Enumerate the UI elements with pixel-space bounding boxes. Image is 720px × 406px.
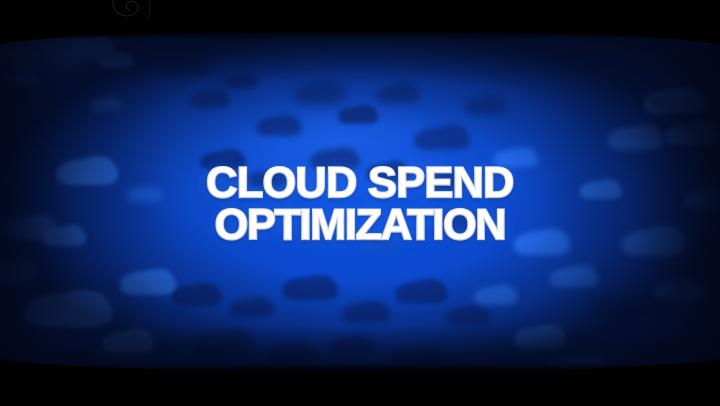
cloud-base <box>0 51 86 69</box>
cloud-shape <box>120 271 176 295</box>
cloud-base <box>514 243 570 255</box>
cloud-base <box>376 94 420 103</box>
top-edge-shadow <box>0 31 720 39</box>
cloud-puff-right <box>80 156 115 175</box>
cloud-base <box>126 194 162 202</box>
cloud-puff-left <box>270 347 293 360</box>
cloud-puff-left <box>400 283 424 297</box>
cloud-base <box>120 283 176 295</box>
cloud-puff-left <box>518 233 544 248</box>
cloud-puff-right <box>303 275 334 292</box>
cloud-shape <box>446 307 490 325</box>
cloud-shape <box>622 229 686 256</box>
cloud-shape <box>414 127 470 150</box>
cloud-base <box>70 48 114 57</box>
cloud-puff-left <box>193 92 211 103</box>
cloud-base <box>580 190 622 199</box>
cloud-puff-right <box>102 96 120 106</box>
cloud-puff-right <box>191 283 219 299</box>
cloud-shape <box>56 159 118 185</box>
cloud-shape <box>338 107 378 124</box>
cloud-base <box>330 346 374 355</box>
cloud-puff-right <box>314 81 343 97</box>
cloud-puff-right <box>416 279 445 295</box>
cloud-base <box>362 245 400 253</box>
cloud-shape <box>282 277 338 300</box>
cloud-shape <box>654 281 704 302</box>
cloud-base <box>46 45 116 59</box>
cloud-shape <box>464 97 506 115</box>
cloud-puff-right <box>491 285 516 298</box>
cloud-shape <box>362 237 400 253</box>
cloud-puff-left <box>688 192 708 203</box>
cloud-puff-right <box>480 95 504 108</box>
cloud-puff-right <box>511 147 536 160</box>
swirl-artifact-icon <box>104 0 162 28</box>
cloud-puff-right <box>646 226 682 246</box>
cloud-base <box>190 99 230 108</box>
cloud-puff-left <box>346 305 368 317</box>
cloud-puff-left <box>658 283 681 296</box>
sky-gradient <box>0 31 720 372</box>
cloud-puff-right <box>205 89 227 102</box>
cloud-puff-right <box>237 74 256 84</box>
cloud-shape <box>590 297 646 320</box>
cloud-puff-left <box>57 352 75 363</box>
cloud-puff-left <box>554 269 576 281</box>
vignette-overlay <box>0 31 720 372</box>
cloud-base <box>0 228 57 240</box>
cloud-puff-right <box>650 341 679 357</box>
cloud-shape <box>200 151 246 170</box>
cloud-puff-right <box>393 83 418 96</box>
cloud-puff-right <box>353 105 375 118</box>
cloud-base <box>248 179 286 187</box>
cloud-puff-right <box>262 169 283 181</box>
cloud-shape <box>608 127 664 150</box>
cloud-puff-left <box>627 231 656 248</box>
cloud-shape <box>376 85 420 103</box>
cloud-puff-left <box>260 119 281 131</box>
cloud-puff-left <box>649 91 677 107</box>
cloud-puff-left <box>498 150 518 161</box>
cloud-shape <box>164 56 208 74</box>
cloud-base <box>514 338 566 349</box>
cloud-puff-left <box>594 299 620 313</box>
cloud-puff-left <box>418 129 444 143</box>
cloud-base <box>366 172 410 181</box>
cloud-shape <box>98 53 134 68</box>
cloud-puff-left <box>251 172 268 182</box>
cloud-puff-right <box>247 297 272 310</box>
cloud-puff-left <box>429 174 447 185</box>
cloud-puff-left <box>583 182 602 193</box>
letterbox-bar-bottom <box>0 372 720 406</box>
cloud-shape <box>294 83 346 105</box>
cloud-puff-left <box>61 161 90 177</box>
cloud-puff-right <box>347 335 372 348</box>
cloud-puff-right <box>20 70 37 80</box>
cloud-puff-right <box>376 235 397 247</box>
cloud-puff-left <box>298 85 322 99</box>
cloud-puff-left <box>297 228 316 239</box>
cloud-shape <box>256 117 302 136</box>
cloud-base <box>342 313 390 323</box>
cloud-shape <box>9 71 39 84</box>
cloud-puff-right <box>21 215 53 232</box>
cloud-puff-left <box>46 229 66 241</box>
cloud-base <box>426 181 466 190</box>
cloud-puff-right <box>285 343 313 359</box>
cloud-shape <box>310 149 360 170</box>
cloud-puff-left <box>478 288 498 299</box>
edge-darkening <box>0 31 720 372</box>
cloud-puff-right <box>383 161 408 174</box>
cloud-base <box>98 60 134 68</box>
cloud-base <box>42 236 86 246</box>
cloud-shape <box>514 327 566 349</box>
cloud-puff-left <box>93 98 108 107</box>
cloud-base <box>256 126 302 136</box>
cloud-puff-right <box>667 87 701 106</box>
cloud-puff-right <box>435 125 466 142</box>
cloud-field <box>0 31 720 372</box>
film-grain-overlay <box>0 31 720 372</box>
cloud-shape <box>42 227 86 246</box>
cloud-puff-left <box>439 216 457 227</box>
cloud-shape <box>666 123 718 145</box>
cloud-puff-right <box>217 329 251 348</box>
cloud-shape <box>550 267 598 287</box>
cloud-base <box>310 159 360 170</box>
cloud-puff-right <box>441 171 463 184</box>
cloud-puff-left <box>670 125 694 139</box>
cloud-puff-right <box>329 147 357 163</box>
cloud-shape <box>102 331 154 353</box>
cloud-puff-left <box>370 164 390 175</box>
video-frame-stage: CLOUD SPEND OPTIMIZATION <box>0 0 720 406</box>
cloud-puff-right <box>57 290 106 315</box>
cloud-base <box>0 272 36 283</box>
cloud-base <box>436 223 476 232</box>
cloud-shape <box>436 215 476 232</box>
cloud-puff-right <box>69 349 91 362</box>
cloud-puff-left <box>168 57 188 68</box>
cloud-shape <box>70 39 114 57</box>
cloud-puff-left <box>11 72 25 80</box>
cloud-puff-right <box>360 301 387 316</box>
cloud-shape <box>580 181 622 199</box>
cloud-base <box>608 138 664 150</box>
cloud-puff-left <box>106 333 130 347</box>
cloud-shape <box>330 337 374 355</box>
cloud-puff-left <box>634 345 658 359</box>
cloud-shape <box>194 331 254 356</box>
cloud-puff-left <box>334 338 354 349</box>
cloud-puff-right <box>596 179 620 192</box>
cloud-base <box>24 309 112 327</box>
cloud-puff-right <box>59 225 84 239</box>
cloud-base <box>684 200 720 209</box>
cloud-shape <box>474 287 518 305</box>
cloud-shape <box>0 217 57 240</box>
cloud-base <box>172 295 222 306</box>
cloud-base <box>102 342 154 353</box>
cloud-puff-left <box>286 279 312 293</box>
cloud-puff-right <box>673 279 701 295</box>
cloud-base <box>224 82 258 89</box>
cloud-puff-left <box>450 308 470 319</box>
cloud-base <box>622 242 686 256</box>
cloud-shape <box>684 191 720 209</box>
cloud-shape <box>514 231 570 255</box>
cloud-shape <box>248 171 286 187</box>
cloud-puff-left <box>204 153 225 165</box>
cloud-shape <box>0 261 36 283</box>
cloud-base <box>200 160 246 170</box>
cloud-puff-right <box>568 265 595 280</box>
cloud-puff-right <box>217 149 243 163</box>
cloud-puff-left <box>380 86 400 97</box>
cloud-base <box>414 138 470 150</box>
cloud-shape <box>426 173 466 190</box>
cloud-puff-left <box>314 151 337 164</box>
cloud-shape <box>342 303 390 323</box>
cloud-base <box>550 277 598 287</box>
cloud-puff-right <box>463 305 488 318</box>
cloud-puff-left <box>518 329 542 343</box>
cloud-base <box>90 104 122 111</box>
cloud-base <box>56 171 118 185</box>
cloud-puff-right <box>451 213 473 226</box>
cloud-base <box>446 316 490 325</box>
cloud-puff-right <box>629 125 660 142</box>
cloud-base <box>338 115 378 124</box>
cloud-shape <box>172 285 222 306</box>
cloud-base <box>474 296 518 305</box>
cloud-shape <box>224 75 258 89</box>
cloud-puff-left <box>234 300 254 311</box>
cloud-base <box>464 106 506 115</box>
cloud-base <box>282 288 338 300</box>
cloud-puff-right <box>122 329 151 345</box>
cloud-base <box>666 134 718 145</box>
cloud-shape <box>366 163 410 181</box>
cloud-base <box>230 308 274 317</box>
cloud-shape <box>644 89 704 114</box>
cloud-base <box>644 101 704 114</box>
cloud-puff-left <box>341 108 359 119</box>
cloud-puff-left <box>176 287 199 300</box>
cloud-puff-left <box>101 54 118 63</box>
cloud-puff-left <box>467 98 486 109</box>
cloud-puff-right <box>310 225 334 238</box>
cloud-puff-right <box>273 115 299 129</box>
cloud-puff-left <box>31 296 71 317</box>
cloud-shape <box>396 281 448 303</box>
cloud-shape <box>230 299 274 317</box>
cloud-shape <box>494 149 538 167</box>
cloud-base <box>9 77 39 84</box>
bottom-edge-shadow <box>0 363 720 372</box>
cloud-puff-right <box>112 52 132 63</box>
cloud-shape <box>126 187 162 202</box>
cloud-puff-left <box>365 238 382 248</box>
cloud-puff-left <box>0 263 12 277</box>
cloud-shape <box>294 227 336 245</box>
cloud-puff-left <box>74 40 94 51</box>
cloud-shape <box>190 91 230 108</box>
cloud-puff-left <box>4 219 31 233</box>
cloud-base <box>494 158 538 167</box>
cloud-shape <box>24 293 112 327</box>
cloud-puff-right <box>701 189 720 202</box>
cloud-shape <box>90 97 122 111</box>
cloud-puff-left <box>199 333 227 349</box>
cloud-base <box>654 291 704 302</box>
cloud-puff-left <box>612 129 638 143</box>
cloud-puff-right <box>87 37 112 50</box>
cloud-puff-right <box>181 54 206 67</box>
cloud-puff-left <box>0 38 42 59</box>
cloud-base <box>396 292 448 303</box>
cloud-puff-right <box>686 121 715 137</box>
cloud-puff-right <box>611 295 642 312</box>
cloud-puff-right <box>534 325 563 341</box>
cloud-puff-right <box>535 229 566 247</box>
cloud-base <box>164 65 208 74</box>
cloud-puff-right <box>140 186 160 197</box>
cloud-puff-left <box>227 76 243 85</box>
cloud-base <box>294 94 346 105</box>
cloud-puff-right <box>141 269 172 287</box>
cloud-base <box>194 343 254 356</box>
cloud-puff-right <box>4 259 33 275</box>
center-glow <box>96 38 623 297</box>
cloud-base <box>294 236 336 245</box>
cloud-shape <box>0 35 86 69</box>
cloud-base <box>590 308 646 320</box>
video-content-area <box>0 31 720 372</box>
cloud-puff-left <box>124 273 150 288</box>
cloud-shape <box>630 343 682 365</box>
cloud-puff-left <box>129 188 146 197</box>
